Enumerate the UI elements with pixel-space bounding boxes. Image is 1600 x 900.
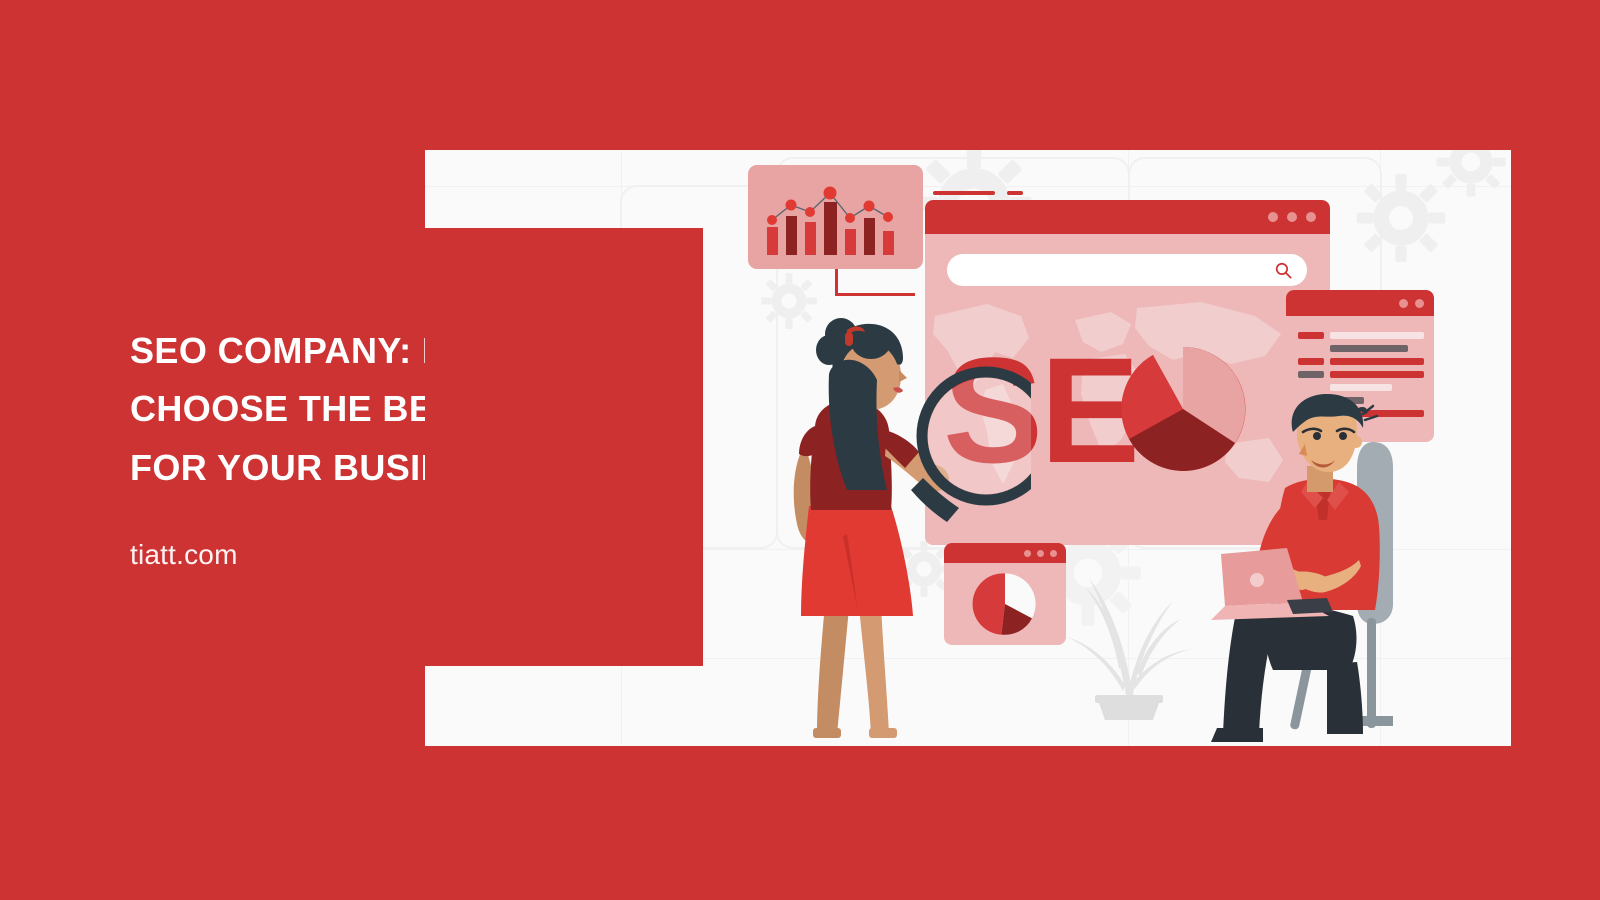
search-results-window[interactable] <box>1286 290 1434 442</box>
row-line <box>1330 332 1424 339</box>
connector-line <box>835 293 915 296</box>
list-item <box>1298 332 1424 339</box>
plant-icon <box>1065 535 1195 725</box>
browser-body: SE <box>925 234 1330 545</box>
list-item <box>1298 384 1424 391</box>
row-line <box>1330 358 1424 365</box>
connector-line <box>835 268 838 296</box>
row-line <box>1330 371 1424 378</box>
list-item <box>1298 423 1424 430</box>
list-item <box>1298 371 1424 378</box>
row-line <box>1330 345 1408 352</box>
browser-title-bar <box>925 200 1330 234</box>
window-dot <box>1287 212 1297 222</box>
window-dot <box>1050 550 1057 557</box>
pie-chart-window[interactable] <box>944 543 1066 645</box>
row-line <box>1330 397 1364 404</box>
svg-text:SE: SE <box>943 326 1137 494</box>
tick-mark <box>1007 191 1023 195</box>
list-item <box>1298 358 1424 365</box>
row-tag <box>1298 332 1324 339</box>
window-dot <box>1415 299 1424 308</box>
row-line <box>1330 410 1424 417</box>
window-dot <box>1037 550 1044 557</box>
main-search-browser[interactable]: SE <box>925 200 1330 545</box>
gear-icon <box>1435 150 1507 198</box>
poster-canvas: SEO COMPANY: HOW TO CHOOSE THE BEST ONE … <box>0 0 1600 900</box>
list-item <box>1298 345 1424 352</box>
row-line <box>1330 384 1392 391</box>
analytics-card <box>748 165 923 269</box>
window-dot <box>1024 550 1031 557</box>
row-tag <box>1298 358 1324 365</box>
window-title-bar <box>1286 290 1434 316</box>
tick-mark <box>933 191 995 195</box>
window-dot <box>1306 212 1316 222</box>
bar-line-chart <box>748 165 923 269</box>
panel-notch <box>425 228 703 666</box>
gear-icon <box>1355 172 1447 264</box>
window-dot <box>1399 299 1408 308</box>
list-item <box>1298 410 1424 417</box>
window-title-bar <box>944 543 1066 563</box>
illustration-panel: SE <box>425 150 1511 746</box>
row-line <box>1330 423 1352 430</box>
row-tag <box>1298 371 1324 378</box>
window-dot <box>1268 212 1278 222</box>
results-list <box>1286 316 1434 442</box>
seo-wordmark: SE <box>925 234 1330 545</box>
gear-icon <box>760 272 818 330</box>
list-item <box>1298 397 1424 404</box>
pie-chart <box>944 563 1066 645</box>
